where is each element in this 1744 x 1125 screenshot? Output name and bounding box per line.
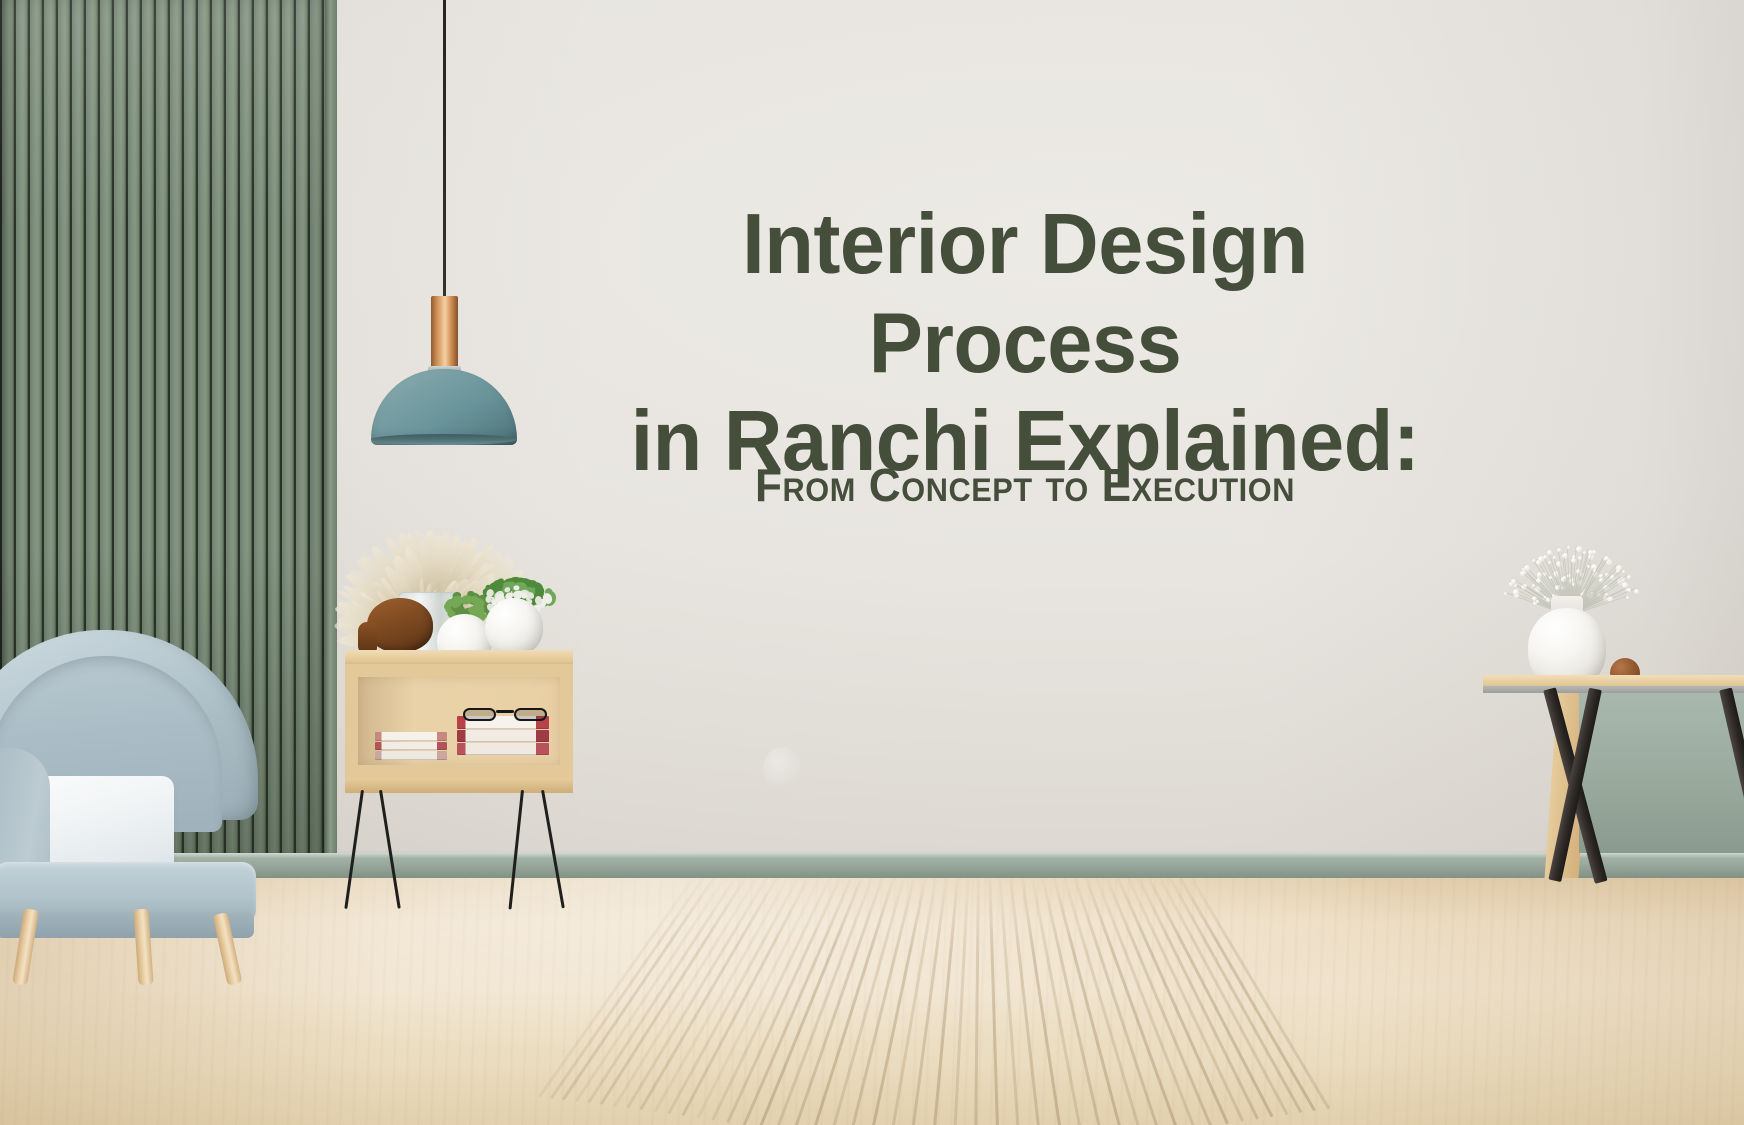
hairpin-leg <box>508 790 524 910</box>
flower-bloom <box>1532 559 1535 562</box>
flower-bloom <box>1557 548 1561 552</box>
eyeglasses <box>463 708 549 721</box>
interior-hero-banner: Interior Design Process in Ranchi Explai… <box>0 0 1744 1125</box>
flower-bloom <box>1626 596 1629 599</box>
flower-bloom <box>1549 576 1552 579</box>
eyeglass-lens <box>514 708 547 721</box>
hairpin-leg <box>344 790 364 909</box>
pendant-lamp-copper-stem <box>431 296 458 368</box>
flower-bloom <box>1504 592 1507 595</box>
flower-bloom <box>1567 546 1570 549</box>
flower-bloom <box>1522 568 1525 571</box>
flower-bloom <box>1576 546 1582 552</box>
side-table-right-green-panel <box>1579 693 1744 853</box>
book <box>457 743 549 755</box>
hairpin-leg <box>379 790 401 909</box>
flower-bloom <box>1536 578 1541 583</box>
flower-bloom <box>1553 556 1556 559</box>
flower-bloom <box>1543 555 1547 559</box>
pendant-lamp-cord <box>443 0 446 300</box>
book <box>375 732 447 741</box>
eyeglass-bridge <box>496 710 514 713</box>
side-table-left <box>345 650 573 905</box>
flower-bloom <box>1592 550 1596 554</box>
pendant-lamp-highlight <box>763 747 801 791</box>
flower-bloom <box>1571 558 1576 563</box>
flower-bloom <box>1622 570 1625 573</box>
eyeglass-lens <box>463 708 496 721</box>
flower-bloom <box>1547 550 1552 555</box>
wooden-sculpture <box>367 598 433 652</box>
flower-bloom <box>1524 584 1527 587</box>
book <box>375 751 447 760</box>
side-table-right-edge <box>1483 686 1744 693</box>
flower-bloom <box>1627 588 1631 592</box>
slat-panel-right-trim <box>325 0 337 884</box>
potted-plant-large <box>485 598 543 656</box>
page-subtitle: From Concept to Execution <box>579 462 1472 508</box>
flower-bloom <box>1588 550 1593 555</box>
armchair <box>0 630 302 945</box>
book <box>375 742 447 750</box>
flower-bloom <box>1627 575 1631 579</box>
book-stack-right <box>457 716 549 764</box>
flower-bloom <box>1634 589 1639 594</box>
hairpin-leg <box>541 790 565 909</box>
page-title: Interior Design Process in Ranchi Explai… <box>581 196 1469 492</box>
book-stack-left <box>375 732 447 764</box>
book <box>457 730 549 742</box>
pendant-lamp-rim <box>371 434 517 445</box>
side-table-right <box>1483 675 1744 905</box>
